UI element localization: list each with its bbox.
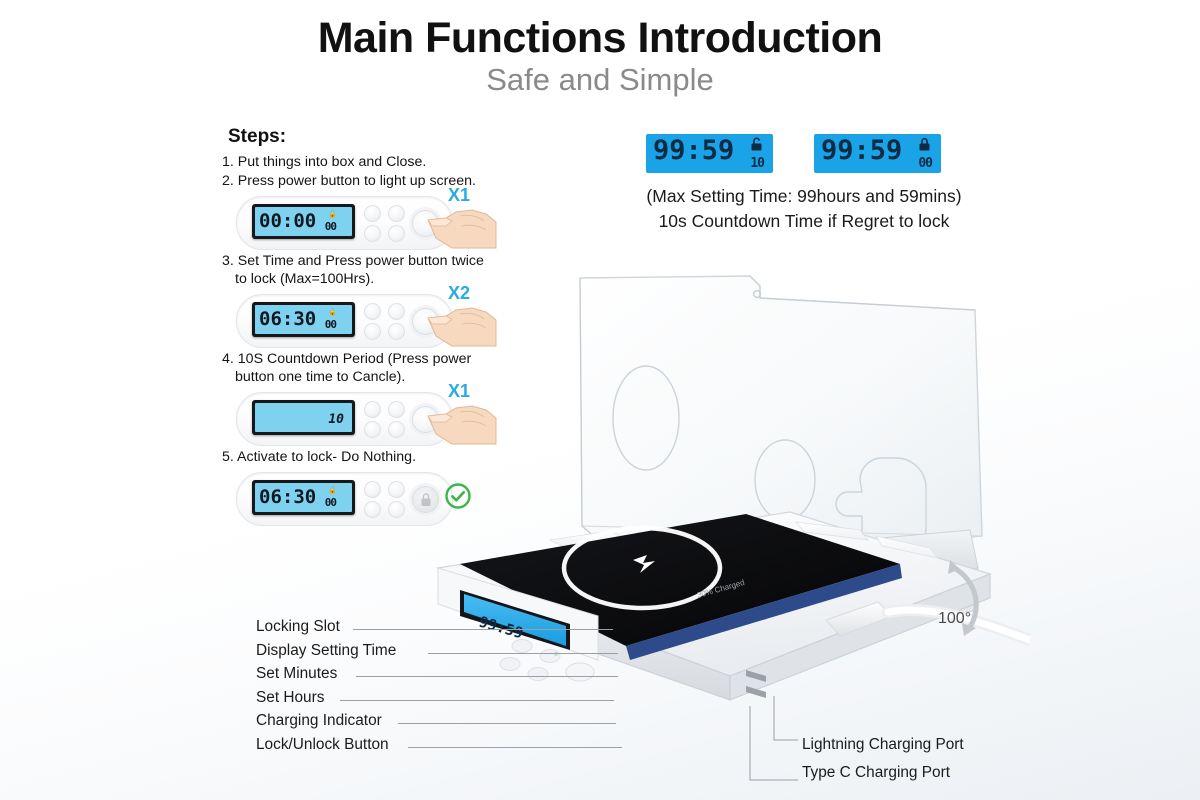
step-5-number: 5.	[222, 449, 234, 465]
device-button-grid	[364, 205, 410, 241]
page-subtitle: Safe and Simple	[0, 62, 1200, 98]
set-minutes-up-button[interactable]	[388, 303, 405, 320]
lcd-screen: 06:30 🔒 00	[255, 483, 352, 512]
leader-line	[353, 629, 613, 630]
device-panel-step-4: 10 X1	[236, 392, 451, 444]
leader-line	[356, 676, 618, 677]
step-3-number: 3.	[222, 253, 234, 269]
device-lcd: 06:30 🔒 00	[252, 480, 355, 515]
callout-display-setting-time: Display Setting Time	[256, 642, 736, 666]
right-callout-list: Lightning Charging Port Type C Charging …	[802, 736, 1132, 792]
callout-label: Type C Charging Port	[802, 764, 950, 782]
set-minutes-up-button[interactable]	[388, 481, 405, 498]
lcd-seconds-value: 00	[321, 319, 336, 330]
set-minutes-up-button[interactable]	[388, 205, 405, 222]
step-4-number: 4.	[222, 351, 234, 367]
lcd-time-value: 00:00	[255, 212, 316, 231]
lcd-time-value: 99:59	[653, 137, 734, 164]
callout-label: Set Minutes	[256, 665, 337, 683]
max-setting-time-section: 99:59 10 99:59 00 (Max Setting Time: 99h…	[614, 134, 994, 235]
device-panel-step-5: 06:30 🔒 00	[236, 472, 451, 524]
callout-locking-slot: Locking Slot	[256, 618, 736, 642]
set-minutes-up-button[interactable]	[388, 401, 405, 418]
leader-line	[408, 747, 622, 748]
callout-lock-unlock-button: Lock/Unlock Button	[256, 736, 736, 760]
max-time-caption-line-2: 10s Countdown Time if Regret to lock	[614, 209, 994, 234]
device-button-grid	[364, 303, 410, 339]
callout-charging-indicator: Charging Indicator	[256, 712, 736, 736]
set-minutes-down-button[interactable]	[388, 421, 405, 438]
callout-set-minutes: Set Minutes	[256, 665, 736, 689]
step-1-text: 1. Put things into box and Close.	[222, 153, 512, 171]
lcd-lock-indicator: 🔒	[324, 487, 336, 494]
set-hours-down-button[interactable]	[364, 225, 381, 242]
infographic-canvas: Main Functions Introduction Safe and Sim…	[0, 0, 1200, 800]
callout-label: Charging Indicator	[256, 712, 382, 730]
lcd-display-unlocked: 99:59 10	[646, 134, 773, 173]
left-callout-list: Locking Slot Display Setting Time Set Mi…	[256, 618, 736, 759]
page-title: Main Functions Introduction	[0, 14, 1200, 63]
step-1-number: 1.	[222, 154, 234, 170]
lcd-lock-indicator: 🔓	[324, 309, 336, 316]
pointing-hand-icon	[426, 204, 498, 250]
callout-label: Lightning Charging Port	[802, 736, 964, 754]
press-count-badge-step-2: X1	[448, 185, 470, 206]
lcd-screen: 06:30 🔓 00	[255, 305, 352, 334]
lcd-seconds-value: 00	[918, 157, 932, 170]
set-hours-down-button[interactable]	[364, 323, 381, 340]
leader-line	[398, 723, 616, 724]
set-hours-up-button[interactable]	[364, 303, 381, 320]
lcd-lock-indicator: 🔓	[324, 211, 336, 218]
lcd-time-value: 99:59	[821, 137, 902, 164]
max-time-displays: 99:59 10 99:59 00	[614, 134, 994, 178]
set-hours-down-button[interactable]	[364, 421, 381, 438]
set-hours-up-button[interactable]	[364, 401, 381, 418]
set-hours-up-button[interactable]	[364, 205, 381, 222]
set-minutes-down-button[interactable]	[388, 323, 405, 340]
callout-label: Set Hours	[256, 689, 324, 707]
leader-line	[340, 700, 614, 701]
step-1-label: Put things into box and Close.	[238, 154, 427, 170]
max-time-caption: (Max Setting Time: 99hours and 59mins) 1…	[614, 184, 994, 235]
set-minutes-down-button[interactable]	[388, 501, 405, 518]
lcd-display-locked: 99:59 00	[814, 134, 941, 173]
set-hours-up-button[interactable]	[364, 481, 381, 498]
lcd-screen: 10	[255, 403, 352, 432]
lcd-countdown-value: 10	[324, 413, 344, 426]
device-panel-step-2: 00:00 🔓 00 X1	[236, 196, 451, 248]
lcd-seconds-value: 00	[321, 221, 336, 232]
device-lcd: 00:00 🔓 00	[252, 204, 355, 239]
step-2-number: 2.	[222, 173, 234, 189]
callout-set-hours: Set Hours	[256, 689, 736, 713]
locked-padlock-icon	[917, 137, 932, 152]
step-5-label: Activate to lock- Do Nothing.	[237, 449, 416, 465]
lcd-seconds-value: 00	[321, 497, 336, 508]
unlocked-padlock-icon	[749, 137, 764, 152]
callout-label: Lock/Unlock Button	[256, 736, 389, 754]
device-lcd: 10	[252, 400, 355, 435]
leader-line	[428, 653, 618, 654]
lcd-time-value: 06:30	[255, 310, 316, 329]
callout-label: Display Setting Time	[256, 642, 396, 660]
device-button-grid	[364, 481, 410, 517]
callout-type-c-charging-port: Type C Charging Port	[802, 764, 1132, 792]
set-hours-down-button[interactable]	[364, 501, 381, 518]
max-time-caption-line-1: (Max Setting Time: 99hours and 59mins)	[614, 184, 994, 209]
device-panel-step-3: 06:30 🔓 00 X2	[236, 294, 451, 346]
set-minutes-down-button[interactable]	[388, 225, 405, 242]
device-lcd: 06:30 🔓 00	[252, 302, 355, 337]
hinge-angle-label: 100°	[938, 610, 971, 628]
step-3-label: Set Time and Press power button twice	[238, 253, 484, 269]
lcd-countdown-value: 10	[750, 157, 764, 170]
device-button-grid	[364, 401, 410, 437]
callout-lightning-charging-port: Lightning Charging Port	[802, 736, 1132, 764]
step-2-label: Press power button to light up screen.	[238, 173, 476, 189]
steps-heading: Steps:	[228, 126, 512, 148]
callout-label: Locking Slot	[256, 618, 340, 636]
lcd-screen: 00:00 🔓 00	[255, 207, 352, 236]
lcd-time-value: 06:30	[255, 488, 316, 507]
